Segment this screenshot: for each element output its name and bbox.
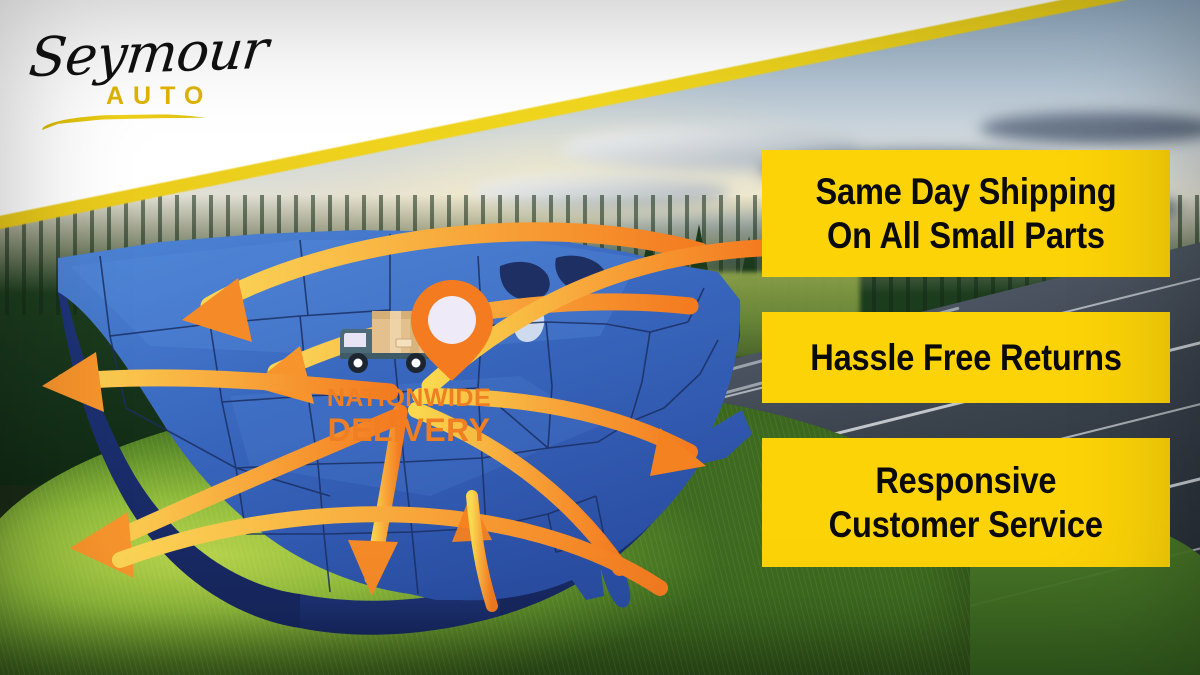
nationwide-delivery-label: NATIONWIDE DELIVERY	[326, 386, 492, 446]
logo-brand-name: Seymour	[26, 18, 270, 89]
nationwide-text: NATIONWIDE	[326, 386, 492, 411]
panel-line: On All Small Parts	[827, 214, 1105, 258]
seymour-auto-logo[interactable]: Seymour AUTO	[28, 22, 258, 122]
message-panel-same-day-shipping[interactable]: Same Day Shipping On All Small Parts	[762, 150, 1170, 277]
location-pin-icon	[406, 278, 498, 383]
promo-banner: NATIONWIDE DELIVERY Seymour AUTO Same Da…	[0, 0, 1200, 675]
message-panel-hassle-free-returns[interactable]: Hassle Free Returns	[762, 312, 1170, 403]
panel-line: Same Day Shipping	[816, 170, 1117, 214]
delivery-text: DELIVERY	[326, 414, 492, 446]
panel-line: Customer Service	[829, 503, 1103, 547]
panel-line: Responsive	[875, 459, 1056, 503]
logo-brand-sub: AUTO	[106, 82, 212, 111]
message-panel-responsive-customer-service[interactable]: Responsive Customer Service	[762, 438, 1170, 567]
panel-line: Hassle Free Returns	[810, 336, 1122, 380]
